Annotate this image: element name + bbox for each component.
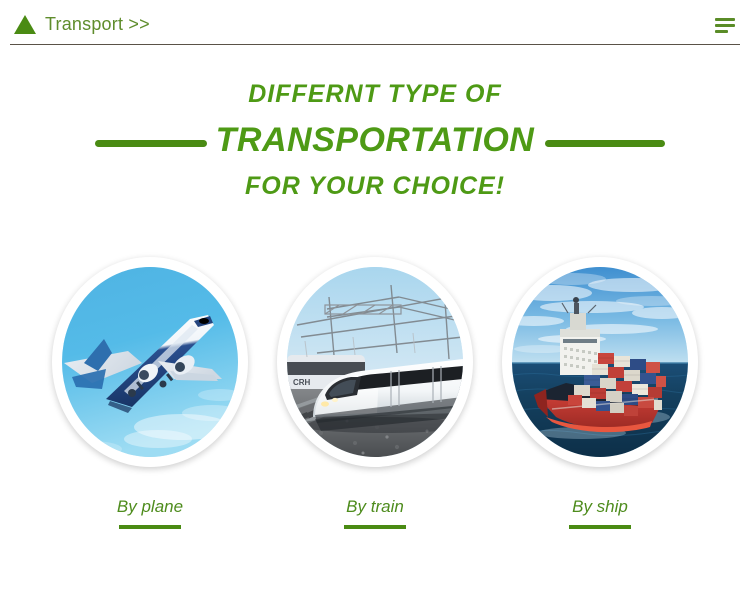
hero-title-line-3: FOR YOUR CHOICE! xyxy=(0,174,750,199)
card-label-ship: By ship xyxy=(572,497,628,517)
hero-title-line-1: DIFFERNT TYPE OF xyxy=(0,82,750,107)
hero-decoration-left xyxy=(95,140,207,147)
card-underline-plane xyxy=(119,525,181,529)
card-label-train: By train xyxy=(346,497,404,517)
high-speed-train-photo: CRH xyxy=(287,267,463,457)
container-ship-photo xyxy=(512,267,688,457)
hamburger-line-3 xyxy=(715,30,728,33)
triangle-up-icon xyxy=(14,15,36,34)
hamburger-line-1 xyxy=(715,18,735,21)
brand[interactable]: Transport >> xyxy=(14,14,150,35)
airplane-photo xyxy=(62,267,238,457)
transport-card-train[interactable]: CRH xyxy=(277,257,473,529)
brand-label: Transport >> xyxy=(45,14,150,35)
header-divider xyxy=(10,44,740,45)
card-underline-train xyxy=(344,525,406,529)
transport-card-list: By plane xyxy=(0,257,750,529)
transport-card-ship[interactable]: By ship xyxy=(502,257,698,529)
card-underline-ship xyxy=(569,525,631,529)
ship-image-circle[interactable] xyxy=(502,257,698,467)
hamburger-menu-icon[interactable] xyxy=(715,18,735,33)
train-image-circle[interactable]: CRH xyxy=(277,257,473,467)
card-label-plane: By plane xyxy=(117,497,183,517)
plane-image-circle[interactable] xyxy=(52,257,248,467)
hamburger-line-2 xyxy=(715,24,735,27)
hero-decoration-right xyxy=(545,140,665,147)
page-header: Transport >> xyxy=(0,0,750,46)
transport-card-plane[interactable]: By plane xyxy=(52,257,248,529)
svg-text:CRH: CRH xyxy=(293,378,311,387)
